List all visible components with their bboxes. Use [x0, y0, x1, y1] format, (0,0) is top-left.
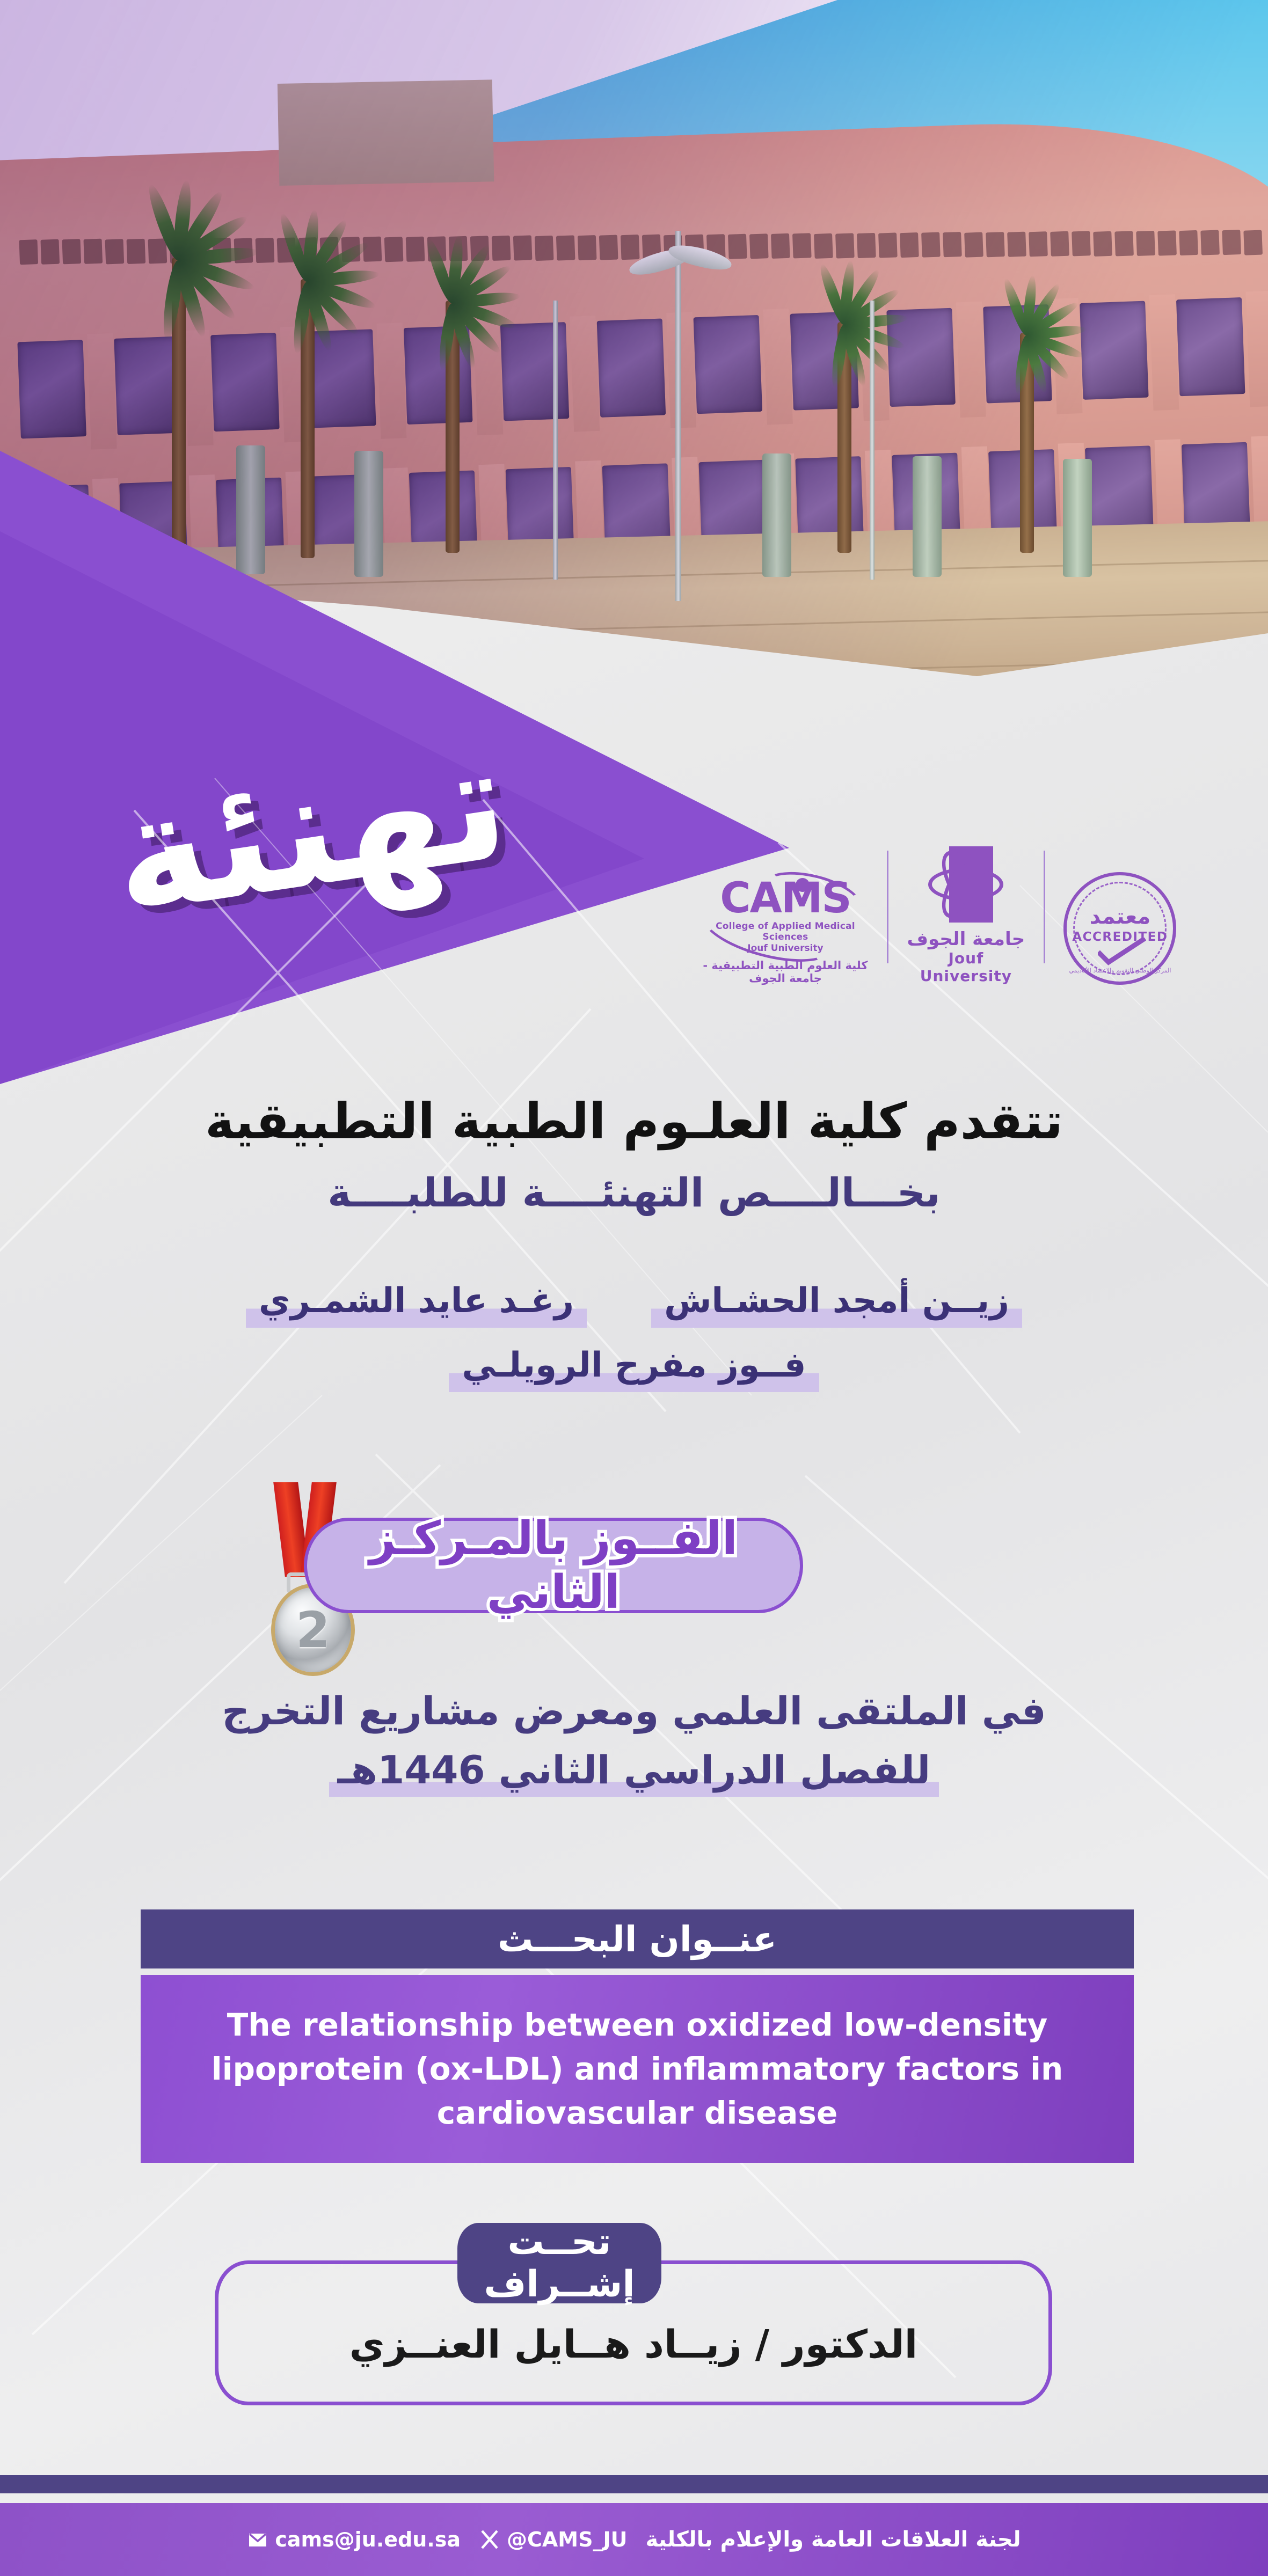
- logo-divider: [887, 851, 888, 963]
- cams-logo: CAMS College of Applied Medical Sciences…: [698, 877, 873, 985]
- accreditation-arabic: معتمد: [1067, 904, 1173, 929]
- footer-email-item[interactable]: cams@ju.edu.sa: [247, 2528, 461, 2551]
- award-banner-text: الفــوز بالمـركـز الثاني: [307, 1512, 800, 1619]
- research-title-header-label: عنــوان البحـــث: [498, 1919, 777, 1960]
- jouf-english-name: Jouf University: [902, 949, 1030, 985]
- accreditation-small-arabic: المركز الوطني للتقويم والاعتماد الأكاديم…: [1067, 967, 1173, 974]
- event-line: في الملتقى العلمي ومعرض مشاريع التخرج: [0, 1685, 1268, 1737]
- logo-divider: [1044, 851, 1045, 963]
- supervisor-label-pill: تحــت إشــراف: [457, 2223, 661, 2303]
- jouf-university-logo: جامعة الجوف Jouf University: [902, 844, 1030, 985]
- research-title-body: The relationship between oxidized low-de…: [141, 1975, 1134, 2163]
- footer-contact-bar: لجنة العلاقات العامة والإعلام بالكلية @C…: [0, 2503, 1268, 2576]
- accreditation-seal-ring-icon: معتمد ACCREDITED المركز الوطني للتقويم و…: [1063, 872, 1176, 985]
- jouf-arabic-name: جامعة الجوف: [907, 929, 1025, 949]
- accreditation-seal: معتمد ACCREDITED المركز الوطني للتقويم و…: [1059, 872, 1181, 985]
- congratulation-poster: Medical Sciences كلية العلوم الطبية التط…: [0, 0, 1268, 2576]
- award-banner: الفــوز بالمـركـز الثاني: [304, 1518, 803, 1613]
- footer-committee-name: لجنة العلاقات العامة والإعلام بالكلية: [645, 2527, 1021, 2552]
- footer-x-handle: @CAMS_JU: [507, 2528, 627, 2551]
- cams-orbit-dot-icon: [796, 878, 810, 892]
- intro-line-2: بخـــالــــص التهنئــــة للطلبــــة: [0, 1167, 1268, 1219]
- accreditation-check-icon: [1098, 938, 1146, 965]
- footer-email: cams@ju.edu.sa: [275, 2528, 461, 2551]
- jouf-atom-icon: [926, 844, 1006, 925]
- supervisor-name: الدكتور / زيــاد هــايل العنــزي: [349, 2322, 918, 2367]
- footer-x-handle-item[interactable]: @CAMS_JU: [479, 2528, 627, 2551]
- research-title-header: عنــوان البحـــث: [141, 1909, 1134, 1968]
- cams-arabic-name: كلية العلوم الطبية التطبيقية - جامعة الج…: [698, 959, 873, 985]
- student-names-row-1: زيــن أمجد الحشـاش رغـد عايد الشمـري: [0, 1277, 1268, 1328]
- envelope-icon: [247, 2529, 268, 2550]
- student-name: فــوز مفرح الرويلـي: [449, 1342, 819, 1392]
- term-line: للفصل الدراسي الثاني 1446هـ: [329, 1747, 939, 1797]
- term-line-wrap: للفصل الدراسي الثاني 1446هـ: [0, 1744, 1268, 1796]
- background-texture: [0, 778, 1268, 2469]
- footer-separator-bar: [0, 2475, 1268, 2493]
- student-name: رغـد عايد الشمـري: [246, 1277, 587, 1328]
- research-title-text: The relationship between oxidized low-de…: [189, 2003, 1085, 2135]
- logo-row: CAMS College of Applied Medical Sciences…: [698, 829, 1181, 985]
- student-name: زيــن أمجد الحشـاش: [651, 1277, 1022, 1328]
- supervisor-label: تحــت إشــراف: [457, 2221, 661, 2306]
- x-twitter-icon: [479, 2529, 500, 2550]
- student-names-row-2: فــوز مفرح الرويلـي: [0, 1342, 1268, 1392]
- intro-line-1: تتقدم كلية العلـوم الطبية التطبيقية: [0, 1092, 1268, 1151]
